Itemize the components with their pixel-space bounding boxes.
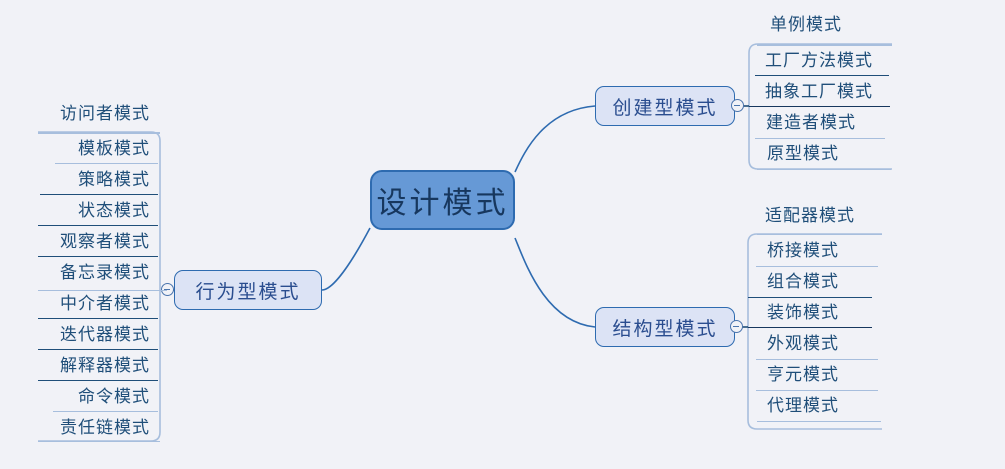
leaf-underline [757, 421, 881, 422]
leaf-adapter[interactable]: 适配器模式 [765, 207, 855, 224]
leaf-label: 模板模式 [78, 139, 150, 158]
leaf-underline [38, 132, 160, 134]
leaf-underline [756, 359, 878, 360]
leaf-label: 组合模式 [767, 272, 839, 291]
leaf-label: 代理模式 [767, 396, 839, 415]
link-root-creational [515, 106, 595, 172]
branch-label-behavioral: 行为型模式 [195, 277, 300, 304]
leaf-singleton[interactable]: 单例模式 [770, 16, 842, 33]
leaf-underline [749, 106, 890, 107]
leaf-chain-of-responsibility[interactable]: 责任链模式 [25, 419, 150, 436]
branch-node-creational[interactable]: 创建型模式 [595, 86, 735, 126]
leaf-underline [756, 390, 878, 391]
leaf-facade[interactable]: 外观模式 [767, 335, 839, 352]
leaf-label: 状态模式 [78, 201, 150, 220]
leaf-bridge[interactable]: 桥接模式 [767, 242, 839, 259]
leaf-decorator[interactable]: 装饰模式 [767, 304, 839, 321]
leaf-label: 迭代器模式 [60, 325, 150, 344]
leaf-memento[interactable]: 备忘录模式 [25, 264, 150, 281]
leaf-underline [38, 225, 158, 226]
leaf-underline [38, 380, 158, 381]
leaf-abstract-factory[interactable]: 抽象工厂模式 [765, 83, 873, 100]
root-node[interactable]: 设计模式 [370, 170, 515, 230]
leaf-label: 命令模式 [78, 387, 150, 406]
leaf-label: 适配器模式 [765, 206, 855, 225]
leaf-underline [38, 441, 160, 442]
leaf-underline [748, 327, 872, 328]
leaf-underline [755, 75, 889, 76]
leaf-underline [757, 44, 892, 46]
leaf-template[interactable]: 模板模式 [25, 140, 150, 157]
leaf-label: 中介者模式 [60, 294, 150, 313]
leaf-label: 观察者模式 [60, 232, 150, 251]
link-root-behavioral [322, 228, 370, 290]
leaf-label: 解释器模式 [60, 356, 150, 375]
leaf-label: 外观模式 [767, 334, 839, 353]
leaf-underline [38, 349, 158, 350]
leaf-label: 责任链模式 [60, 418, 150, 437]
leaf-label: 装饰模式 [767, 303, 839, 322]
leaf-command[interactable]: 命令模式 [25, 388, 150, 405]
leaf-underline [55, 163, 158, 164]
root-node-label: 设计模式 [377, 178, 509, 222]
leaf-label: 原型模式 [767, 144, 839, 163]
leaf-underline [757, 169, 891, 170]
leaf-mediator[interactable]: 中介者模式 [25, 295, 150, 312]
leaf-label: 工厂方法模式 [765, 51, 873, 70]
leaf-visitor[interactable]: 访问者模式 [25, 105, 150, 122]
branch-node-behavioral[interactable]: 行为型模式 [174, 270, 322, 310]
leaf-iterator[interactable]: 迭代器模式 [25, 326, 150, 343]
leaf-strategy[interactable]: 策略模式 [25, 171, 150, 188]
leaf-builder[interactable]: 建造者模式 [766, 114, 856, 131]
leaf-flyweight[interactable]: 亨元模式 [767, 366, 839, 383]
leaf-underline [757, 234, 882, 235]
mindmap-canvas: 设计模式 创建型模式 单例模式 工厂方法模式 抽象工厂模式 建造者模式 原型模式… [0, 0, 1005, 469]
branch-node-structural[interactable]: 结构型模式 [595, 307, 735, 347]
leaf-observer[interactable]: 观察者模式 [25, 233, 150, 250]
leaf-label: 单例模式 [770, 15, 842, 34]
leaf-underline [53, 411, 158, 412]
leaf-underline [38, 318, 158, 319]
leaf-interpreter[interactable]: 解释器模式 [25, 357, 150, 374]
leaf-underline [40, 194, 158, 195]
leaf-underline [755, 138, 885, 139]
leaf-label: 访问者模式 [60, 104, 150, 123]
leaf-proxy[interactable]: 代理模式 [767, 397, 839, 414]
leaf-label: 建造者模式 [766, 113, 856, 132]
leaf-underline [38, 256, 158, 257]
leaf-prototype[interactable]: 原型模式 [767, 145, 839, 162]
collapse-toggle-structural[interactable] [730, 320, 743, 333]
leaf-label: 策略模式 [78, 170, 150, 189]
leaf-composite[interactable]: 组合模式 [767, 273, 839, 290]
leaf-factory-method[interactable]: 工厂方法模式 [765, 52, 873, 69]
leaf-state[interactable]: 状态模式 [25, 202, 150, 219]
branch-label-creational: 创建型模式 [612, 93, 717, 120]
link-root-structural [515, 238, 595, 327]
leaf-label: 抽象工厂模式 [765, 82, 873, 101]
leaf-underline [756, 266, 878, 267]
branch-label-structural: 结构型模式 [612, 314, 717, 341]
leaf-underline [748, 297, 872, 298]
leaf-underline [38, 290, 167, 291]
leaf-label: 备忘录模式 [60, 263, 150, 282]
leaf-label: 桥接模式 [767, 241, 839, 260]
leaf-label: 亨元模式 [767, 365, 839, 384]
collapse-toggle-creational[interactable] [731, 99, 744, 112]
